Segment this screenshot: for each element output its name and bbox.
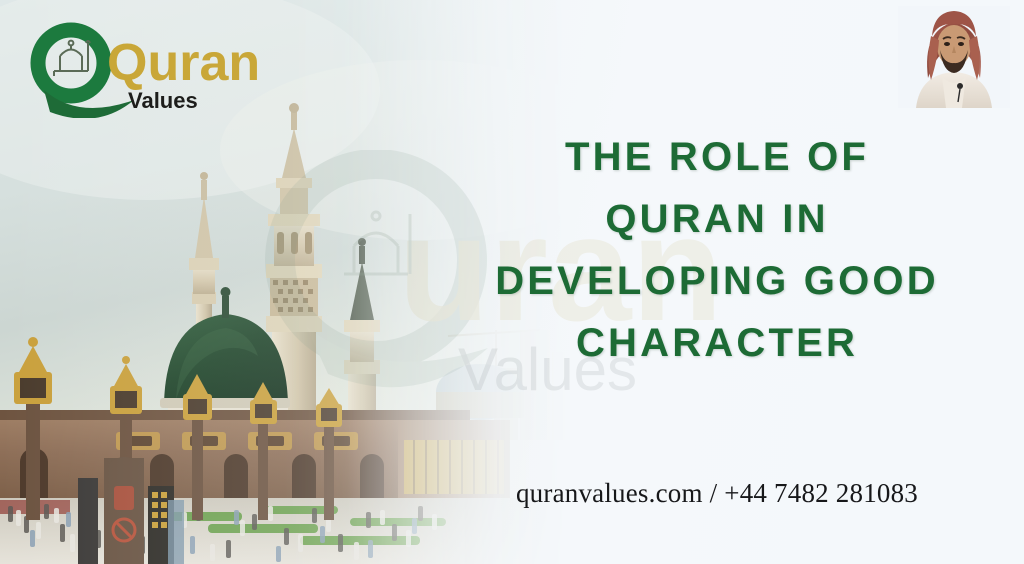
contact-line[interactable]: quranvalues.com / +44 7482 281083 (452, 478, 982, 509)
logo-wordmark-primary: Quran (107, 34, 260, 92)
headline-line-2: QURAN IN (452, 188, 982, 250)
brand-logo[interactable]: Quran Values (24, 18, 274, 118)
headline-line-3: DEVELOPING GOOD (452, 250, 982, 312)
presenter-portrait (898, 6, 1010, 108)
headline-line-4: CHARACTER (452, 312, 982, 374)
promo-banner: uran Values (0, 0, 1024, 564)
logo-wordmark-secondary: Values (128, 88, 198, 113)
mosque-in-letter-q-icon (54, 41, 90, 76)
headline: THE ROLE OF QURAN IN DEVELOPING GOOD CHA… (452, 126, 982, 374)
headline-line-1: THE ROLE OF (452, 126, 982, 188)
